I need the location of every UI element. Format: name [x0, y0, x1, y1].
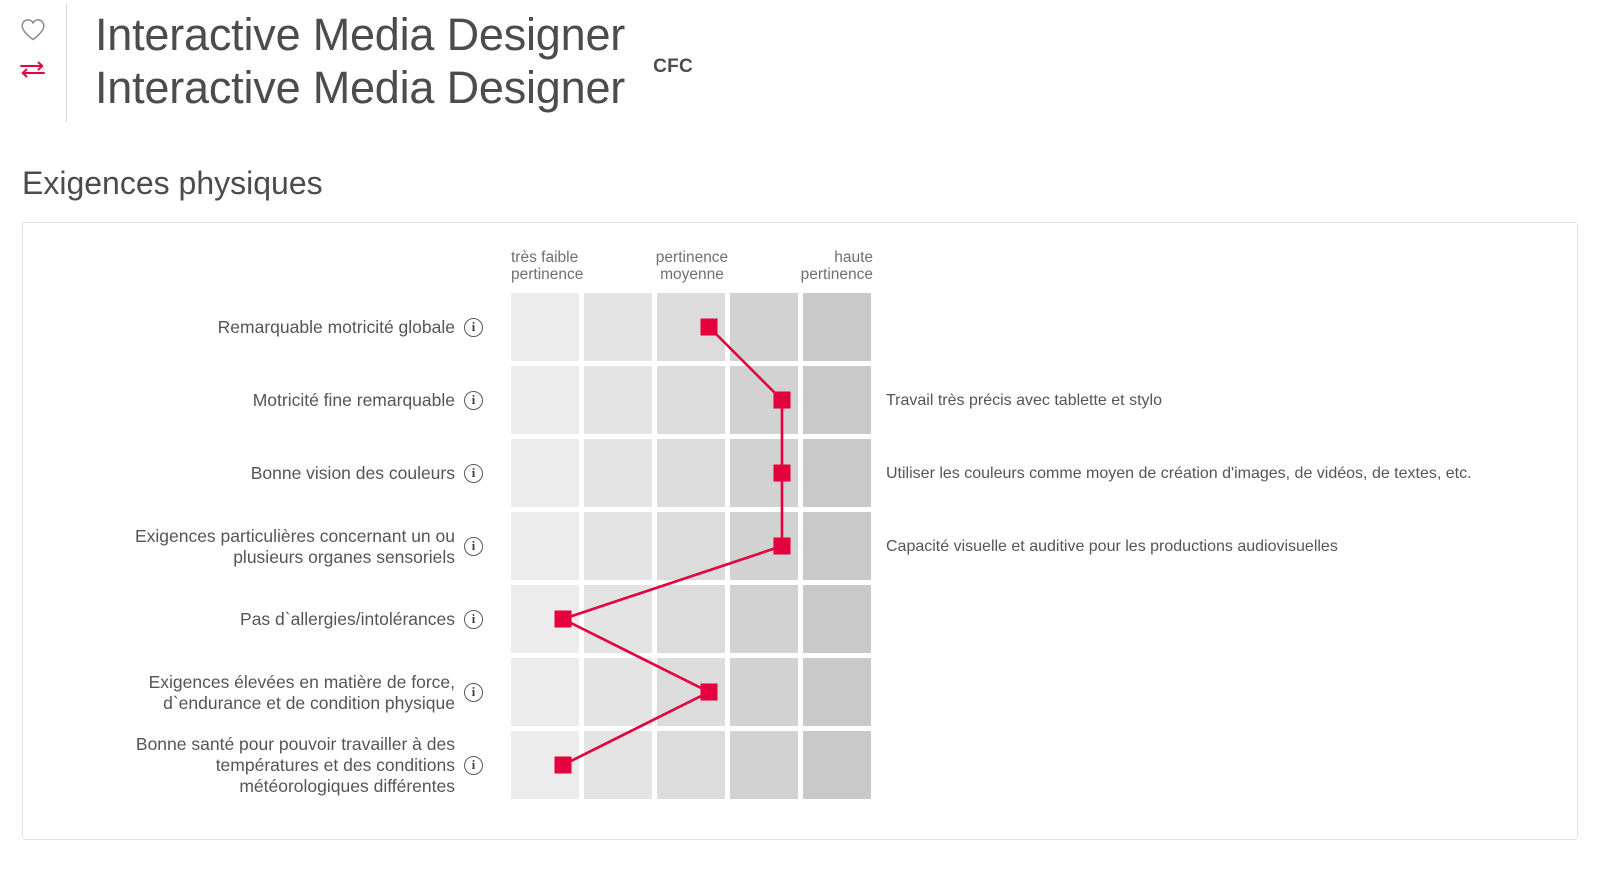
matrix-cell: [730, 293, 798, 361]
matrix-cell: [584, 585, 652, 653]
matrix-cell: [803, 512, 871, 580]
row-cells: [511, 656, 873, 729]
matrix-cell: [803, 439, 871, 507]
page-header: Interactive Media Designer Interactive M…: [0, 0, 1600, 130]
matrix-row: Exigences particulières concernant un ou…: [23, 510, 1579, 583]
requirements-card: très faible pertinence pertinence moyenn…: [22, 222, 1578, 840]
matrix-cell: [657, 439, 725, 507]
row-label: Motricité fine remarquablei: [63, 364, 483, 437]
row-label: Bonne santé pour pouvoir travailler à de…: [63, 729, 483, 802]
matrix-cell: [803, 366, 871, 434]
matrix-cell: [803, 658, 871, 726]
row-cells: [511, 364, 873, 437]
matrix-cell: [730, 658, 798, 726]
matrix-cell: [730, 512, 798, 580]
row-label-text: Exigences élevées en matière de force,d`…: [149, 672, 455, 714]
matrix-cell: [511, 658, 579, 726]
matrix-cell: [584, 512, 652, 580]
row-cells: [511, 291, 873, 364]
matrix-cell: [584, 366, 652, 434]
row-label-text: Motricité fine remarquable: [253, 390, 455, 411]
row-annotation: Capacité visuelle et auditive pour les p…: [886, 510, 1338, 583]
row-annotation: Utiliser les couleurs comme moyen de cré…: [886, 437, 1472, 510]
matrix-cell: [730, 585, 798, 653]
info-icon[interactable]: i: [464, 318, 483, 337]
matrix-row: Bonne vision des couleursiUtiliser les c…: [23, 437, 1579, 510]
info-icon[interactable]: i: [464, 464, 483, 483]
matrix-cell: [584, 658, 652, 726]
matrix-cell: [657, 512, 725, 580]
matrix-cell: [730, 366, 798, 434]
info-icon[interactable]: i: [464, 683, 483, 702]
row-label: Remarquable motricité globalei: [63, 291, 483, 364]
matrix-cell: [657, 366, 725, 434]
row-label-text: Bonne vision des couleurs: [251, 463, 455, 484]
matrix-row: Bonne santé pour pouvoir travailler à de…: [23, 729, 1579, 802]
qualification-badge: CFC: [653, 56, 693, 78]
matrix-cell: [511, 293, 579, 361]
row-cells: [511, 510, 873, 583]
matrix-cell: [511, 512, 579, 580]
favorite-heart-button[interactable]: [16, 16, 50, 46]
info-icon[interactable]: i: [464, 610, 483, 629]
matrix-row: Remarquable motricité globalei: [23, 291, 1579, 364]
row-label: Bonne vision des couleursi: [63, 437, 483, 510]
section-title: Exigences physiques: [22, 163, 323, 203]
row-cells: [511, 583, 873, 656]
row-label-text: Exigences particulières concernant un ou…: [135, 526, 455, 568]
compare-arrows-icon: [18, 59, 48, 84]
heart-icon: [20, 18, 46, 45]
title-block: Interactive Media Designer Interactive M…: [67, 0, 693, 114]
column-header-high: haute pertinence: [733, 249, 873, 283]
row-label: Exigences particulières concernant un ou…: [63, 510, 483, 583]
row-label: Pas d`allergies/intolérancesi: [63, 583, 483, 656]
info-icon[interactable]: i: [464, 537, 483, 556]
matrix-row: Pas d`allergies/intolérancesi: [23, 583, 1579, 656]
matrix-cell: [511, 366, 579, 434]
matrix-cell: [511, 731, 579, 799]
matrix-cell: [803, 585, 871, 653]
row-cells: [511, 729, 873, 802]
matrix-cell: [584, 293, 652, 361]
relevance-matrix: très faible pertinence pertinence moyenn…: [23, 223, 1579, 841]
matrix-cell: [584, 439, 652, 507]
row-label-text: Bonne santé pour pouvoir travailler à de…: [136, 734, 455, 797]
occupation-title-primary: Interactive Media Designer: [95, 8, 625, 61]
matrix-cell: [730, 731, 798, 799]
matrix-cell: [511, 439, 579, 507]
matrix-cell: [657, 658, 725, 726]
matrix-cell: [584, 731, 652, 799]
compare-button[interactable]: [16, 56, 50, 86]
matrix-cell: [511, 585, 579, 653]
matrix-cell: [803, 293, 871, 361]
info-icon[interactable]: i: [464, 756, 483, 775]
info-icon[interactable]: i: [464, 391, 483, 410]
matrix-cell: [657, 731, 725, 799]
row-label: Exigences élevées en matière de force,d`…: [63, 656, 483, 729]
row-label-text: Remarquable motricité globale: [218, 317, 455, 338]
matrix-row: Exigences élevées en matière de force,d`…: [23, 656, 1579, 729]
matrix-cell: [730, 439, 798, 507]
matrix-cell: [657, 585, 725, 653]
occupation-titles: Interactive Media Designer Interactive M…: [95, 8, 625, 114]
row-label-text: Pas d`allergies/intolérances: [240, 609, 455, 630]
row-cells: [511, 437, 873, 510]
header-action-buttons: [0, 0, 66, 86]
occupation-title-secondary: Interactive Media Designer: [95, 61, 625, 114]
row-annotation: Travail très précis avec tablette et sty…: [886, 364, 1162, 437]
matrix-row: Motricité fine remarquableiTravail très …: [23, 364, 1579, 437]
matrix-cell: [657, 293, 725, 361]
matrix-column-headers: très faible pertinence pertinence moyenn…: [511, 249, 873, 285]
matrix-cell: [803, 731, 871, 799]
